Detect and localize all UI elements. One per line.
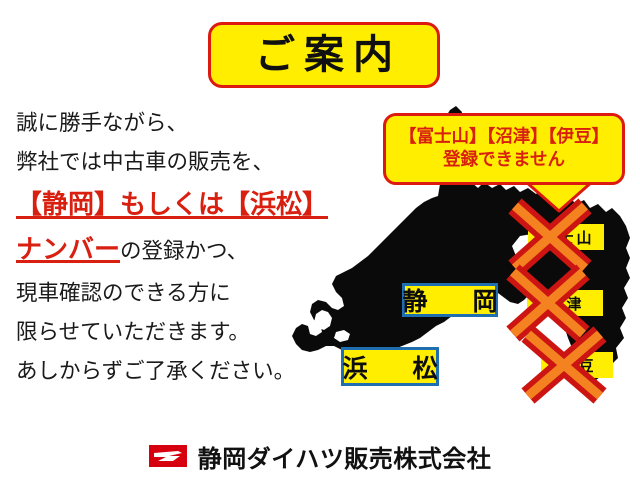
callout-bubble: 【富士山】【沼津】【伊豆】 登録できません [383,113,625,185]
map-label-shizuoka: 静 岡 [402,283,498,317]
title-banner: ご案内 [208,22,440,88]
page-title: ご案内 [246,35,402,75]
map-label-numazu: 沼津 [527,290,603,316]
notice-poster: ご案内 誠に勝手ながら、 弊社では中古車の販売を、 【静岡】もしくは【浜松】 ナ… [0,0,640,480]
callout-line-1: 【富士山】【沼津】【伊豆】 [399,126,609,149]
footer: 静岡ダイハツ販売株式会社 [0,436,640,476]
company-name: 静岡ダイハツ販売株式会社 [198,439,492,474]
map-label-hamamatsu: 浜 松 [341,347,439,386]
callout-line-2: 登録できません [443,149,565,172]
callout-body: 【富士山】【沼津】【伊豆】 登録できません [383,113,625,185]
map-label-fujisan: 富士山 [528,224,604,250]
copy-emphasis-number: ナンバー [16,235,120,265]
map-label-izu: 伊豆 [541,352,613,378]
daihatsu-logo-icon [149,445,187,467]
copy-line-4-rest: の登録かつ、 [120,239,248,264]
